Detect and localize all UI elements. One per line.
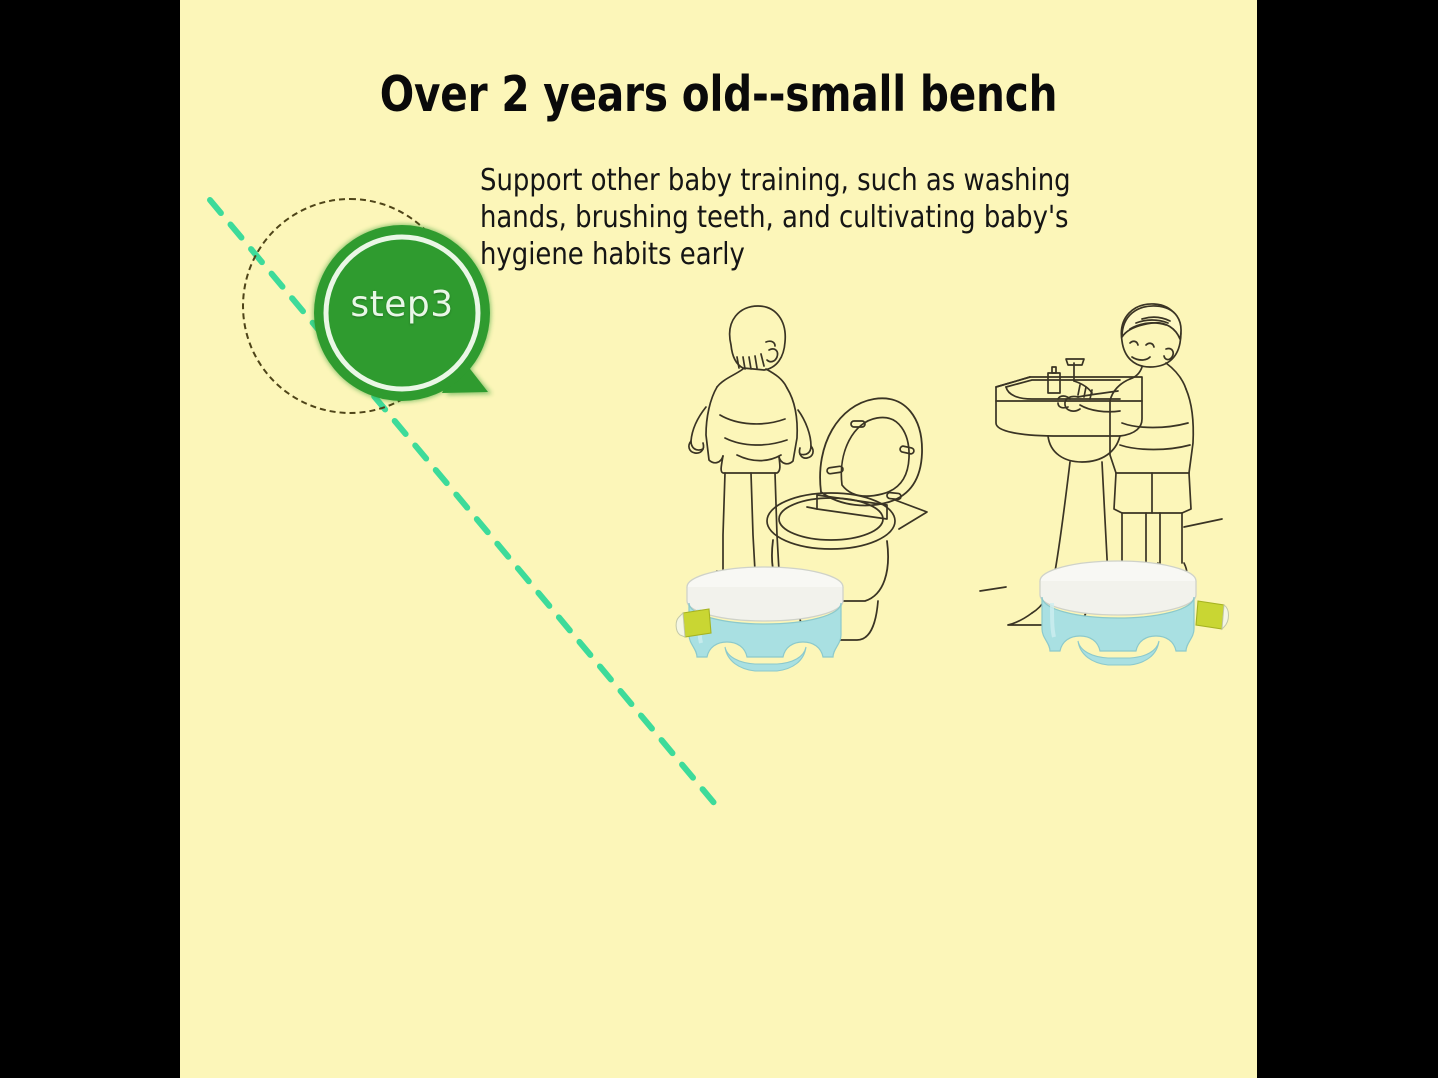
illustration-child-at-toilet (665, 295, 965, 685)
slide-canvas: Over 2 years old--small bench Support ot… (0, 0, 1438, 1078)
step-badge[interactable]: step3 (220, 190, 520, 450)
step-stool (676, 567, 843, 671)
description-line-2: hands, brushing teeth, and cultivating b… (480, 199, 1133, 236)
description-line-3: hygiene habits early (480, 236, 1133, 273)
badge-label: step3 (314, 284, 490, 325)
step-stool (1040, 561, 1229, 665)
letterbox-bar-right (1257, 0, 1438, 1078)
description-text: Support other baby training, such as was… (480, 162, 1133, 273)
letterbox-bar-left (0, 0, 180, 1078)
slide-content: Over 2 years old--small bench Support ot… (180, 0, 1257, 1078)
illustration-child-at-sink (970, 295, 1250, 685)
page-title: Over 2 years old--small bench (223, 66, 1214, 123)
description-line-1: Support other baby training, such as was… (480, 162, 1133, 199)
